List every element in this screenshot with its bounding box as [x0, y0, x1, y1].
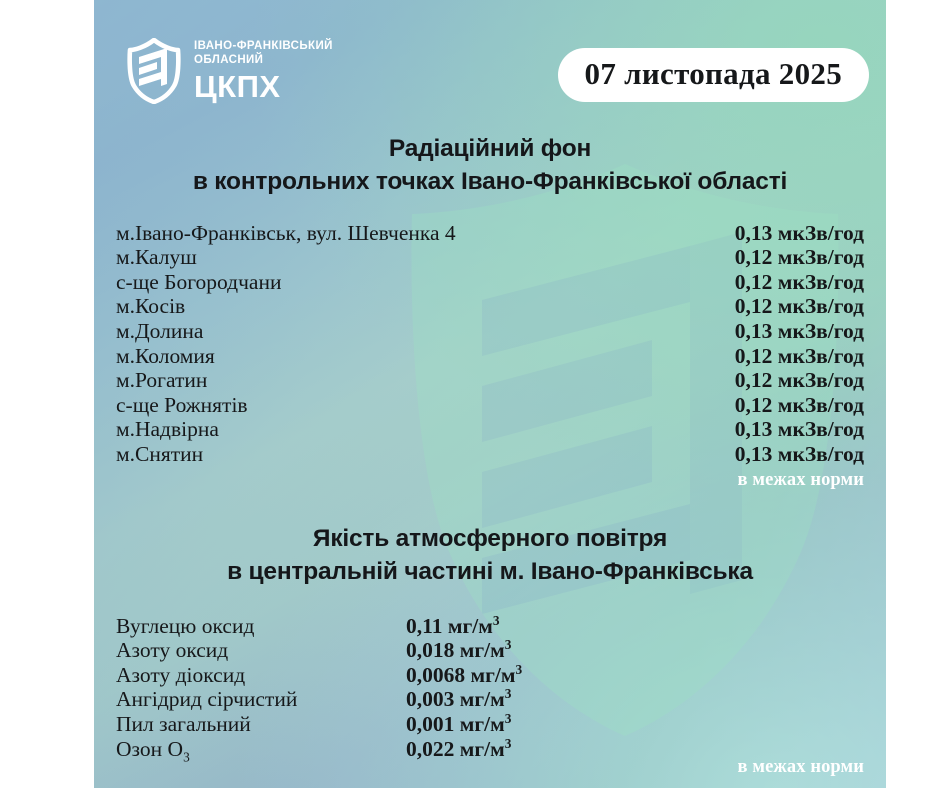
radiation-point-label: м.Косів [116, 294, 185, 319]
shield-logo-icon [127, 38, 181, 104]
radiation-point-value: 0,12 мкЗв/год [735, 270, 864, 295]
brand-text: ІВАНО-ФРАНКІВСЬКИЙ ОБЛАСНИЙ ЦКПХ [194, 41, 333, 102]
radiation-point-value: 0,12 мкЗв/год [735, 393, 864, 418]
radiation-point-label: м.Калуш [116, 245, 197, 270]
radiation-point-value: 0,13 мкЗв/год [735, 417, 864, 442]
radiation-row: м.Надвірна0,13 мкЗв/год [116, 417, 864, 442]
air-substance-value: 0,003 мг/м3 [406, 687, 511, 712]
radiation-measurement-list: м.Івано-Франківськ, вул. Шевченка 40,13 … [94, 221, 886, 467]
radiation-row: м.Снятин0,13 мкЗв/год [116, 442, 864, 467]
radiation-point-value: 0,12 мкЗв/год [735, 368, 864, 393]
air-substance-value: 0,022 мг/м3 [406, 737, 511, 762]
brand-abbreviation: ЦКПХ [194, 71, 333, 102]
radiation-title-line-2: в контрольних точках Івано-Франківської … [104, 166, 876, 199]
radiation-point-label: м.Івано-Франківськ, вул. Шевченка 4 [116, 221, 456, 246]
brand-line-1: ІВАНО-ФРАНКІВСЬКИЙ [194, 41, 333, 53]
radiation-point-label: с-ще Рожнятів [116, 393, 248, 418]
radiation-point-value: 0,13 мкЗв/год [735, 319, 864, 344]
radiation-point-label: м.Надвірна [116, 417, 219, 442]
radiation-point-value: 0,12 мкЗв/год [735, 344, 864, 369]
air-row: Пил загальний0,001 мг/м3 [116, 712, 864, 737]
infographic-card: ІВАНО-ФРАНКІВСЬКИЙ ОБЛАСНИЙ ЦКПХ 07 лист… [94, 0, 886, 788]
radiation-norm-note: в межах норми [94, 470, 886, 491]
radiation-point-label: м.Долина [116, 319, 203, 344]
air-row: Ангідрид сірчистий0,003 мг/м3 [116, 687, 864, 712]
radiation-row: м.Косів0,12 мкЗв/год [116, 294, 864, 319]
air-measurement-list: Вуглецю оксид0,11 мг/м3Азоту оксид0,018 … [94, 614, 886, 762]
brand-lockup: ІВАНО-ФРАНКІВСЬКИЙ ОБЛАСНИЙ ЦКПХ [127, 38, 333, 104]
radiation-row: м.Івано-Франківськ, вул. Шевченка 40,13 … [116, 221, 864, 246]
radiation-row: м.Рогатин0,12 мкЗв/год [116, 368, 864, 393]
radiation-point-value: 0,12 мкЗв/год [735, 294, 864, 319]
radiation-point-value: 0,13 мкЗв/год [735, 442, 864, 467]
air-substance-label: Пил загальний [116, 712, 406, 737]
radiation-row: с-ще Рожнятів0,12 мкЗв/год [116, 393, 864, 418]
air-row: Азоту діоксид0,0068 мг/м3 [116, 663, 864, 688]
radiation-point-label: м.Снятин [116, 442, 203, 467]
air-substance-value: 0,001 мг/м3 [406, 712, 511, 737]
air-title-line-2: в центральній частині м. Івано-Франківсь… [104, 556, 876, 589]
air-substance-value: 0,018 мг/м3 [406, 638, 511, 663]
radiation-point-label: м.Рогатин [116, 368, 207, 393]
air-substance-label: Озон O3 [116, 737, 406, 762]
radiation-row: м.Коломия0,12 мкЗв/год [116, 344, 864, 369]
card-header: ІВАНО-ФРАНКІВСЬКИЙ ОБЛАСНИЙ ЦКПХ 07 лист… [94, 0, 886, 128]
radiation-title-line-1: Радіаційний фон [389, 135, 591, 162]
air-substance-value: 0,0068 мг/м3 [406, 663, 522, 688]
air-title-line-1: Якість атмосферного повітря [313, 525, 667, 552]
air-substance-label: Азоту діоксид [116, 663, 406, 688]
brand-line-2: ОБЛАСНИЙ [194, 55, 333, 67]
air-row: Вуглецю оксид0,11 мг/м3 [116, 614, 864, 639]
air-substance-label: Ангідрид сірчистий [116, 687, 406, 712]
air-quality-section: Якість атмосферного повітря в центральні… [94, 523, 886, 761]
radiation-point-label: м.Коломия [116, 344, 215, 369]
radiation-row: м.Долина0,13 мкЗв/год [116, 319, 864, 344]
radiation-point-value: 0,13 мкЗв/год [735, 221, 864, 246]
air-row: Азоту оксид0,018 мг/м3 [116, 638, 864, 663]
air-section-title: Якість атмосферного повітря в центральні… [94, 523, 886, 589]
air-norm-note: в межах норми [738, 757, 864, 778]
radiation-section-title: Радіаційний фон в контрольних точках Іва… [94, 133, 886, 199]
radiation-row: м.Калуш0,12 мкЗв/год [116, 245, 864, 270]
radiation-point-value: 0,12 мкЗв/год [735, 245, 864, 270]
radiation-point-label: с-ще Богородчани [116, 270, 282, 295]
air-substance-label: Вуглецю оксид [116, 614, 406, 639]
date-badge: 07 листопада 2025 [558, 48, 869, 102]
radiation-row: с-ще Богородчани0,12 мкЗв/год [116, 270, 864, 295]
air-substance-label: Азоту оксид [116, 638, 406, 663]
air-substance-value: 0,11 мг/м3 [406, 614, 500, 639]
radiation-section: Радіаційний фон в контрольних точках Іва… [94, 133, 886, 491]
